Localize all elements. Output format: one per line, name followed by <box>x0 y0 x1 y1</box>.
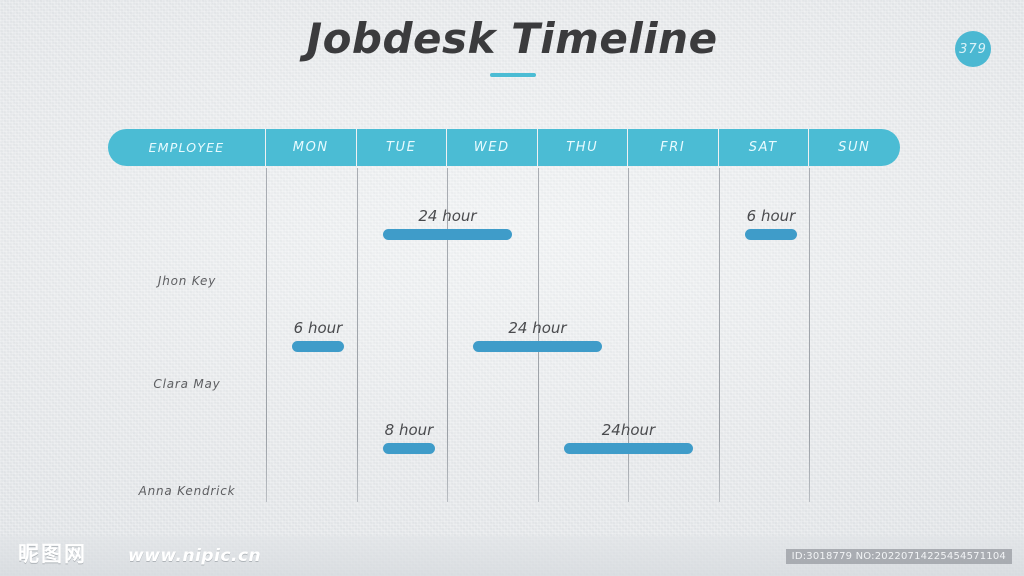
task-bar[interactable] <box>383 443 435 454</box>
grid-divider-mon <box>266 168 267 502</box>
task-duration-label: 8 hour <box>383 421 435 439</box>
task-duration-label: 24 hour <box>473 319 602 337</box>
task-bar[interactable] <box>564 443 693 454</box>
header-cell-employee: EMPLOYEE <box>108 129 266 166</box>
title-underline <box>490 73 536 77</box>
page-number-badge: 379 <box>955 31 991 67</box>
task-duration-label: 6 hour <box>292 319 344 337</box>
watermark-logo: 昵图网 <box>18 538 87 568</box>
task-bar[interactable] <box>745 229 797 240</box>
watermark-id-text: ID:3018779 NO:20220714225454571104 <box>786 549 1012 564</box>
task-bar[interactable] <box>473 341 602 352</box>
task-bar-group[interactable]: 24 hour <box>383 229 512 240</box>
header-cell-sat: SAT <box>719 129 810 166</box>
task-duration-label: 24hour <box>564 421 693 439</box>
task-bar-group[interactable]: 24hour <box>564 443 693 454</box>
task-duration-label: 24 hour <box>383 207 512 225</box>
header-cell-fri: FRI <box>628 129 719 166</box>
employee-name-row-2: Clara May <box>108 377 266 391</box>
grid-divider-sat <box>719 168 720 502</box>
task-bar-group[interactable]: 24 hour <box>473 341 602 352</box>
page-title: Jobdesk Timeline <box>0 14 1024 63</box>
grid-divider-sun <box>809 168 810 502</box>
grid-divider-tue <box>357 168 358 502</box>
header-cell-thu: THU <box>538 129 629 166</box>
slide-canvas: Jobdesk Timeline 379 EMPLOYEE MON TUE WE… <box>0 0 1024 576</box>
header-cell-mon: MON <box>266 129 357 166</box>
watermark-url: www.nipic.cn <box>128 546 261 566</box>
task-bar-group[interactable]: 6 hour <box>745 229 797 240</box>
timeline-header-row: EMPLOYEE MON TUE WED THU FRI SAT SUN <box>108 129 900 166</box>
task-duration-label: 6 hour <box>745 207 797 225</box>
header-cell-sun: SUN <box>809 129 900 166</box>
header-cell-wed: WED <box>447 129 538 166</box>
task-bar-group[interactable]: 6 hour <box>292 341 344 352</box>
task-bar-group[interactable]: 8 hour <box>383 443 435 454</box>
task-bar[interactable] <box>292 341 344 352</box>
employee-name-row-1: Jhon Key <box>108 274 266 288</box>
employee-name-row-3: Anna Kendrick <box>108 484 266 498</box>
task-bar[interactable] <box>383 229 512 240</box>
header-cell-tue: TUE <box>357 129 448 166</box>
